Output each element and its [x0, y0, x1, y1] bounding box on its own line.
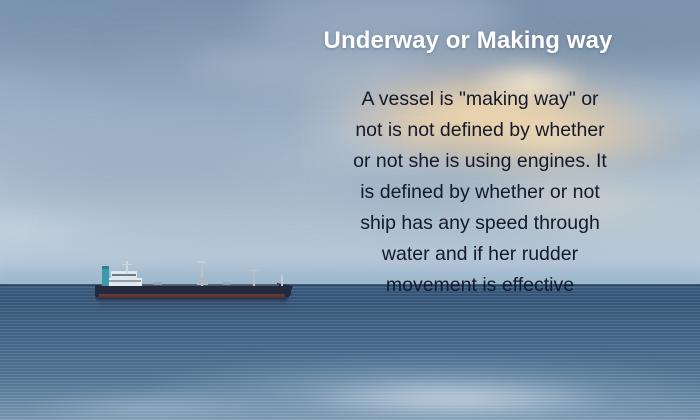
quote-body: A vessel is "making way" or not is not d…	[300, 84, 660, 301]
ship-deck-windows	[109, 280, 141, 282]
ship-funnel	[102, 267, 109, 286]
ship-deck-fitting	[153, 282, 162, 285]
quote-line: or not she is using engines. It	[300, 146, 660, 177]
quote-line: A vessel is "making way" or	[300, 84, 660, 115]
quote-card: Underway or Making way A vessel is "maki…	[0, 0, 700, 420]
quote-line: movement is effective	[300, 270, 660, 301]
ship-reflection	[99, 299, 287, 306]
ship	[93, 258, 295, 304]
page-title: Underway or Making way	[258, 27, 678, 55]
ship-rigging-icon	[203, 260, 245, 268]
ship-mast-yard-icon	[122, 264, 132, 265]
quote-line: ship has any speed through	[300, 208, 660, 239]
ship-deck-fitting	[223, 282, 231, 285]
ship-manifold-housing	[197, 278, 208, 285]
quote-line: water and if her rudder	[300, 239, 660, 270]
quote-line: not is not defined by whether	[300, 115, 660, 146]
ship-mast-yard-icon	[198, 261, 206, 263]
ship-aft-mast-icon	[126, 261, 128, 273]
quote-line: is defined by whether or not	[300, 177, 660, 208]
water-reflection	[20, 390, 280, 420]
ship-bow-mast-icon	[281, 275, 283, 286]
ship-mast-yard-icon	[249, 270, 259, 271]
ship-waterline	[96, 297, 288, 300]
water-reflection	[300, 380, 620, 420]
ship-funnel-cap	[102, 266, 109, 269]
ship-bridge-windows	[112, 274, 136, 276]
